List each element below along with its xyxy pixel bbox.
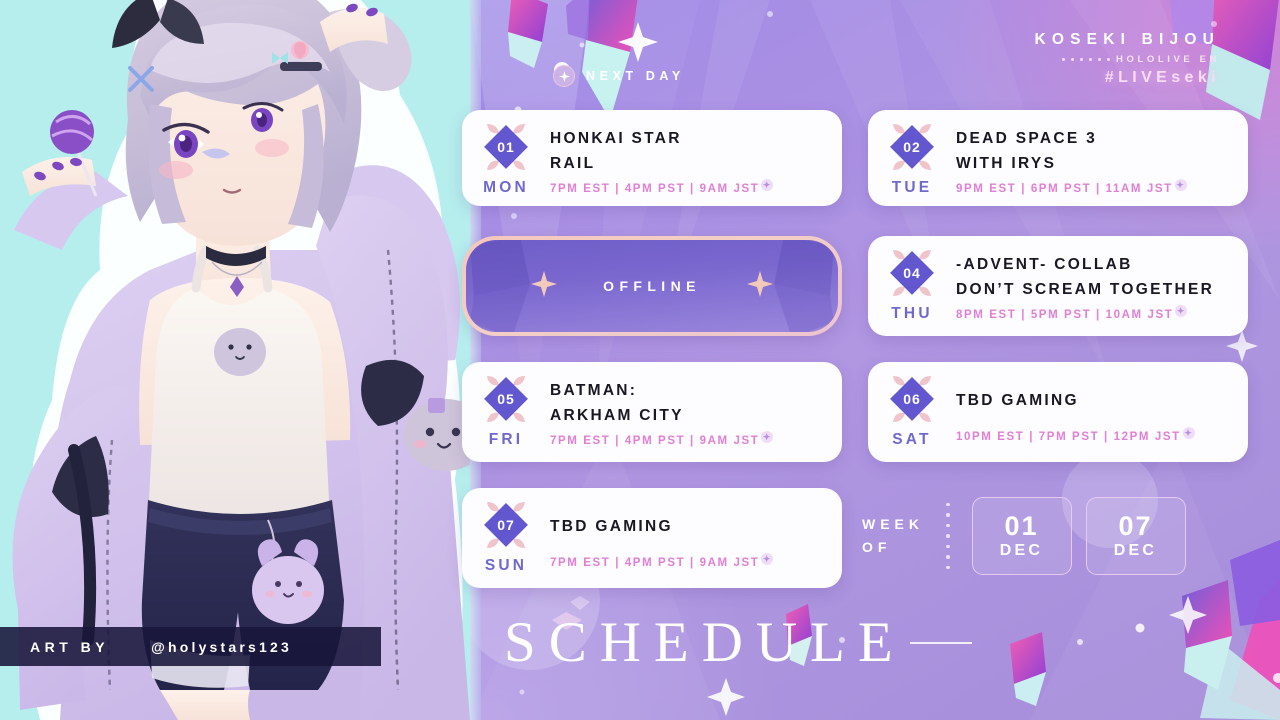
day-abbr: TUE bbox=[892, 179, 933, 197]
asterisk-icon: ✦ bbox=[1183, 427, 1195, 439]
talent-name: KOSEKI BIJOU bbox=[1034, 31, 1220, 49]
stream-times: 10PM EST | 7PM PST | 12PM JST ✦ bbox=[956, 431, 1248, 443]
stream-title-line2: WITH IRYS bbox=[956, 151, 1248, 176]
stream-times: 7PM EST | 4PM PST | 9AM JST ✦ bbox=[550, 183, 842, 195]
card-body: DEAD SPACE 3 WITH IRYS 9PM EST | 6PM PST… bbox=[956, 110, 1248, 195]
schedule-card-sat[interactable]: 06 SAT TBD GAMING 10PM EST | 7PM PST | 1… bbox=[868, 362, 1248, 462]
brand-block: KOSEKI BIJOU HOLOLIVE EN #LIVEseki bbox=[1034, 31, 1220, 87]
end-day: 07 bbox=[1118, 512, 1152, 541]
week-of-label: WEEK OF bbox=[862, 513, 924, 559]
times-text: 10PM EST | 7PM PST | 12PM JST bbox=[956, 431, 1181, 443]
day-badge: 02 bbox=[885, 120, 939, 174]
day-number: 04 bbox=[885, 246, 939, 300]
stream-times: 9PM EST | 6PM PST | 11AM JST ✦ bbox=[956, 183, 1248, 195]
panel-left-edge bbox=[470, 0, 481, 720]
asterisk-icon: ✦ bbox=[761, 179, 773, 191]
stream-title-line2: RAIL bbox=[550, 151, 842, 176]
art-by-label: ART BY bbox=[30, 639, 109, 655]
week-start-date: 01 DEC bbox=[972, 497, 1072, 575]
next-day-label: NEXT DAY bbox=[586, 69, 685, 83]
day-badge: 06 bbox=[885, 372, 939, 426]
offline-card[interactable]: OFFLINE bbox=[462, 236, 842, 336]
day-abbr: MON bbox=[483, 179, 529, 197]
schedule-title-block: SCHEDULE bbox=[504, 612, 972, 674]
stream-title-line1: HONKAI STAR bbox=[550, 126, 842, 151]
sparkle-icon-left bbox=[531, 271, 557, 302]
times-text: 7PM EST | 4PM PST | 9AM JST bbox=[550, 183, 759, 195]
day-abbr: THU bbox=[891, 305, 932, 323]
week-of-block: WEEK OF 01 DEC 07 DEC bbox=[862, 497, 1200, 575]
stream-title-line1: BATMAN: bbox=[550, 378, 842, 403]
title-rule bbox=[910, 642, 972, 644]
stream-times: 7PM EST | 4PM PST | 9AM JST ✦ bbox=[550, 435, 842, 447]
day-column: 02 TUE bbox=[868, 110, 956, 197]
stream-title-line1: TBD GAMING bbox=[550, 514, 842, 539]
day-column: 01 MON bbox=[462, 110, 550, 197]
day-badge: 07 bbox=[479, 498, 533, 552]
schedule-graphic: ART BY @holystars123 bbox=[0, 0, 1280, 720]
day-abbr: FRI bbox=[489, 431, 524, 449]
asterisk-icon: ✦ bbox=[761, 431, 773, 443]
day-number: 01 bbox=[479, 120, 533, 174]
hashtag-label: #LIVEseki bbox=[1034, 69, 1220, 87]
end-month: DEC bbox=[1114, 542, 1157, 560]
day-number: 05 bbox=[479, 372, 533, 426]
card-body: TBD GAMING 7PM EST | 4PM PST | 9AM JST ✦ bbox=[550, 488, 842, 569]
day-column: 05 FRI bbox=[462, 362, 550, 449]
day-number: 06 bbox=[885, 372, 939, 426]
page-title: SCHEDULE bbox=[504, 612, 906, 674]
week-of-line1: WEEK bbox=[862, 513, 924, 536]
times-text: 7PM EST | 4PM PST | 9AM JST bbox=[550, 557, 759, 569]
card-body: HONKAI STAR RAIL 7PM EST | 4PM PST | 9AM… bbox=[550, 110, 842, 195]
art-credit-bar: ART BY @holystars123 bbox=[0, 627, 381, 666]
next-day-marker: NEXT DAY bbox=[553, 65, 685, 87]
character-art-svg bbox=[0, 0, 478, 720]
stream-title-line2: DON’T SCREAM TOGETHER bbox=[956, 277, 1248, 302]
start-month: DEC bbox=[1000, 542, 1043, 560]
schedule-card-thu[interactable]: 04 THU -ADVENT- COLLAB DON’T SCREAM TOGE… bbox=[868, 236, 1248, 336]
card-body: TBD GAMING 10PM EST | 7PM PST | 12PM JST… bbox=[956, 362, 1248, 443]
day-badge: 04 bbox=[885, 246, 939, 300]
day-column: 04 THU bbox=[868, 236, 956, 323]
times-text: 8PM EST | 5PM PST | 10AM JST bbox=[956, 309, 1173, 321]
day-number: 07 bbox=[479, 498, 533, 552]
stream-title-line1: TBD GAMING bbox=[956, 388, 1248, 413]
offline-crystal-decor-left bbox=[466, 240, 580, 332]
stream-times: 8PM EST | 5PM PST | 10AM JST ✦ bbox=[956, 309, 1248, 321]
schedule-card-tue[interactable]: 02 TUE DEAD SPACE 3 WITH IRYS 9PM EST | … bbox=[868, 110, 1248, 206]
stream-title-line1: -ADVENT- COLLAB bbox=[956, 252, 1248, 277]
schedule-card-mon[interactable]: 01 MON HONKAI STAR RAIL 7PM EST | 4PM PS… bbox=[462, 110, 842, 206]
decorative-dots bbox=[1062, 58, 1110, 61]
schedule-card-fri[interactable]: 05 FRI BATMAN: ARKHAM CITY 7PM EST | 4PM… bbox=[462, 362, 842, 462]
art-by-handle: @holystars123 bbox=[151, 639, 292, 655]
stream-times: 7PM EST | 4PM PST | 9AM JST ✦ bbox=[550, 557, 842, 569]
start-day: 01 bbox=[1004, 512, 1038, 541]
character-illustration: ART BY @holystars123 bbox=[0, 0, 478, 720]
times-text: 7PM EST | 4PM PST | 9AM JST bbox=[550, 435, 759, 447]
times-text: 9PM EST | 6PM PST | 11AM JST bbox=[956, 183, 1173, 195]
day-column: 07 SUN bbox=[462, 488, 550, 575]
card-body: BATMAN: ARKHAM CITY 7PM EST | 4PM PST | … bbox=[550, 362, 842, 447]
day-badge: 05 bbox=[479, 372, 533, 426]
offline-label: OFFLINE bbox=[603, 278, 701, 294]
offline-inner: OFFLINE bbox=[466, 240, 838, 332]
card-body: -ADVENT- COLLAB DON’T SCREAM TOGETHER 8P… bbox=[956, 236, 1248, 321]
day-badge: 01 bbox=[479, 120, 533, 174]
dotted-divider bbox=[946, 503, 950, 570]
week-of-line2: OF bbox=[862, 536, 924, 559]
stream-title-line2: ARKHAM CITY bbox=[550, 403, 842, 428]
asterisk-icon: ✦ bbox=[761, 553, 773, 565]
day-number: 02 bbox=[885, 120, 939, 174]
offline-crystal-decor-right bbox=[724, 240, 838, 332]
sparkle-icon bbox=[553, 65, 575, 87]
asterisk-icon: ✦ bbox=[1175, 179, 1187, 191]
sparkle-icon-right bbox=[747, 271, 773, 302]
week-end-date: 07 DEC bbox=[1086, 497, 1186, 575]
day-abbr: SUN bbox=[485, 557, 527, 575]
schedule-card-sun[interactable]: 07 SUN TBD GAMING 7PM EST | 4PM PST | 9A… bbox=[462, 488, 842, 588]
day-abbr: SAT bbox=[892, 431, 931, 449]
affiliation-label: HOLOLIVE EN bbox=[1116, 54, 1220, 65]
day-column: 06 SAT bbox=[868, 362, 956, 449]
asterisk-icon: ✦ bbox=[1175, 305, 1187, 317]
stream-title-line1: DEAD SPACE 3 bbox=[956, 126, 1248, 151]
